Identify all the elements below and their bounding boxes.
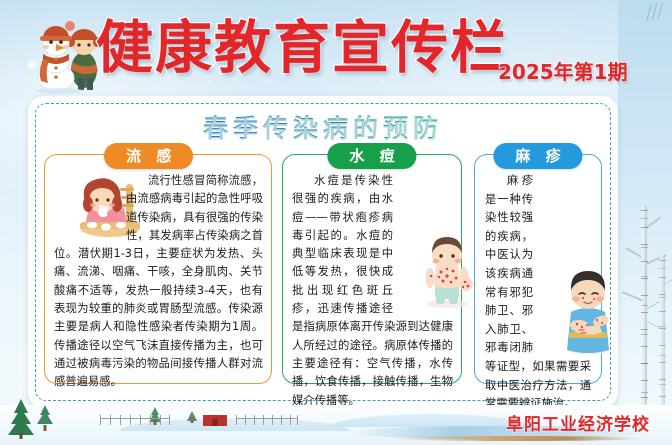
- boy-with-rash-icon: [397, 236, 453, 308]
- fence: [100, 415, 170, 425]
- badge-flu: 流 感: [104, 143, 193, 169]
- health-education-poster: 健康教育宣传栏 2025年第1期 ╱╱╱ 春季传染病的预防 流 感: [0, 0, 672, 445]
- fir-tree-icon: [36, 399, 54, 431]
- river-bank: [392, 436, 642, 441]
- birch-tree-icon: [660, 255, 665, 405]
- poster-header: 健康教育宣传栏 2025年第1期 ╱╱╱: [0, 0, 672, 96]
- badge-measles: 麻 疹: [493, 143, 582, 169]
- page-title: 健康教育宣传栏: [96, 14, 509, 82]
- school-name: 阜阳工业经济学校: [506, 410, 650, 435]
- fir-tree-icon: [8, 391, 34, 439]
- fir-tree-icon: [186, 403, 198, 423]
- boy-scratching-arm-icon: [535, 268, 597, 354]
- section-flu-box: 流行性感冒简称流感，由流感病毒引起的急性呼吸道传染病，具有很强的传染性，其发病率…: [44, 154, 272, 384]
- section-flu-text-wrap: 流行性感冒简称流感，由流感病毒引起的急性呼吸道传染病，具有很强的传染性，其发病率…: [54, 172, 263, 392]
- issue-label: 2025年第1期: [498, 56, 628, 85]
- birch-tree-icon: [642, 205, 647, 405]
- section-measles-text-wrap: 麻疹是一种传染性较强的疾病，中医认为该疾病通常有邪犯肺卫、邪入肺卫、邪毒闭肺等证…: [485, 172, 591, 414]
- sick-girl-in-bed-icon: [54, 172, 122, 238]
- section-measles-box: 麻疹是一种传染性较强的疾病，中医认为该疾病通常有邪犯肺卫、邪入肺卫、邪毒闭肺等证…: [474, 154, 602, 384]
- badge-chickenpox: 水 痘: [327, 143, 416, 169]
- corner-decoration: ╱╱╱: [643, 2, 663, 21]
- section-chickenpox-text-wrap: 水痘是传染性很强的疾病，由水痘——带状疱疹病毒引起的。水痘的典型临床表现是中低等…: [292, 172, 453, 410]
- winter-landscape-icon: 阜阳工业经济学校: [0, 387, 672, 445]
- subtitle: 春季传染病的预防: [28, 109, 618, 145]
- fence: [236, 415, 298, 425]
- content-panel: 春季传染病的预防 流 感: [28, 96, 618, 408]
- sections-container: 流 感: [44, 143, 602, 397]
- section-chickenpox-box: 水痘是传染性很强的疾病，由水痘——带状疱疹病毒引起的。水痘的典型临床表现是中低等…: [282, 154, 462, 384]
- house-icon: [200, 407, 230, 427]
